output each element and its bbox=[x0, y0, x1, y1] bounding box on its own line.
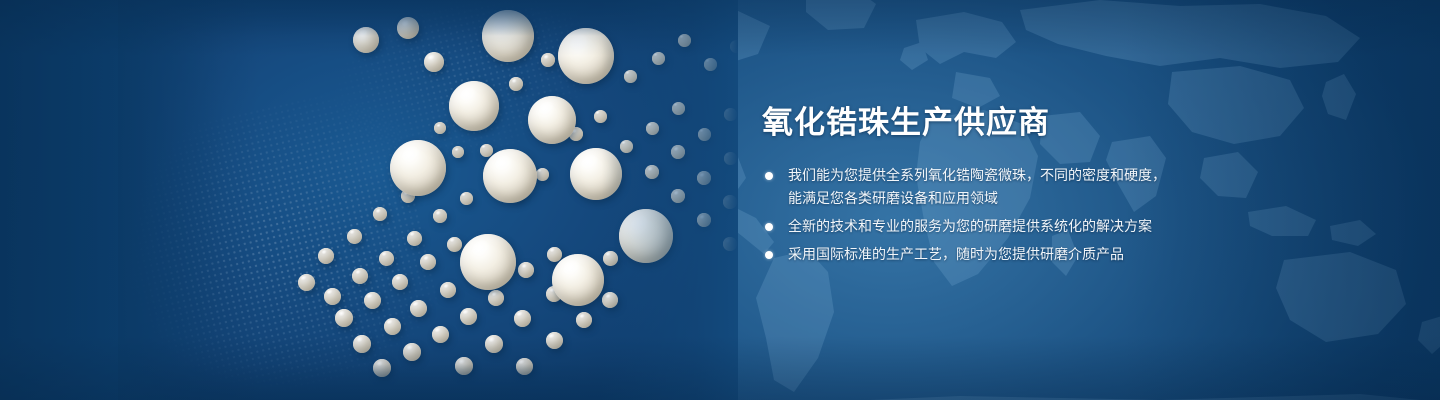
feature-bullet: 我们能为您提供全系列氧化锆陶瓷微珠，不同的密度和硬度，能满足您各类研磨设备和应用… bbox=[762, 164, 1232, 210]
banner-copy: 氧化锆珠生产供应商 我们能为您提供全系列氧化锆陶瓷微珠，不同的密度和硬度，能满足… bbox=[762, 106, 1232, 271]
hero-banner: 氧化锆珠生产供应商 我们能为您提供全系列氧化锆陶瓷微珠，不同的密度和硬度，能满足… bbox=[0, 0, 1440, 400]
feature-bullet-line: 能满足您各类研磨设备和应用领域 bbox=[788, 187, 1232, 210]
feature-bullet-line: 我们能为您提供全系列氧化锆陶瓷微珠，不同的密度和硬度， bbox=[788, 164, 1232, 187]
feature-bullet: 全新的技术和专业的服务为您的研磨提供系统化的解决方案 bbox=[762, 215, 1232, 238]
bullet-dot-icon bbox=[765, 223, 773, 231]
bullet-dot-icon bbox=[765, 251, 773, 259]
feature-bullet: 采用国际标准的生产工艺，随时为您提供研磨介质产品 bbox=[762, 243, 1232, 266]
feature-bullet-line: 全新的技术和专业的服务为您的研磨提供系统化的解决方案 bbox=[788, 215, 1232, 238]
feature-bullet-line: 采用国际标准的生产工艺，随时为您提供研磨介质产品 bbox=[788, 243, 1232, 266]
page-title: 氧化锆珠生产供应商 bbox=[762, 106, 1232, 140]
feature-bullet-list: 我们能为您提供全系列氧化锆陶瓷微珠，不同的密度和硬度，能满足您各类研磨设备和应用… bbox=[762, 164, 1232, 266]
bullet-dot-icon bbox=[765, 172, 773, 180]
